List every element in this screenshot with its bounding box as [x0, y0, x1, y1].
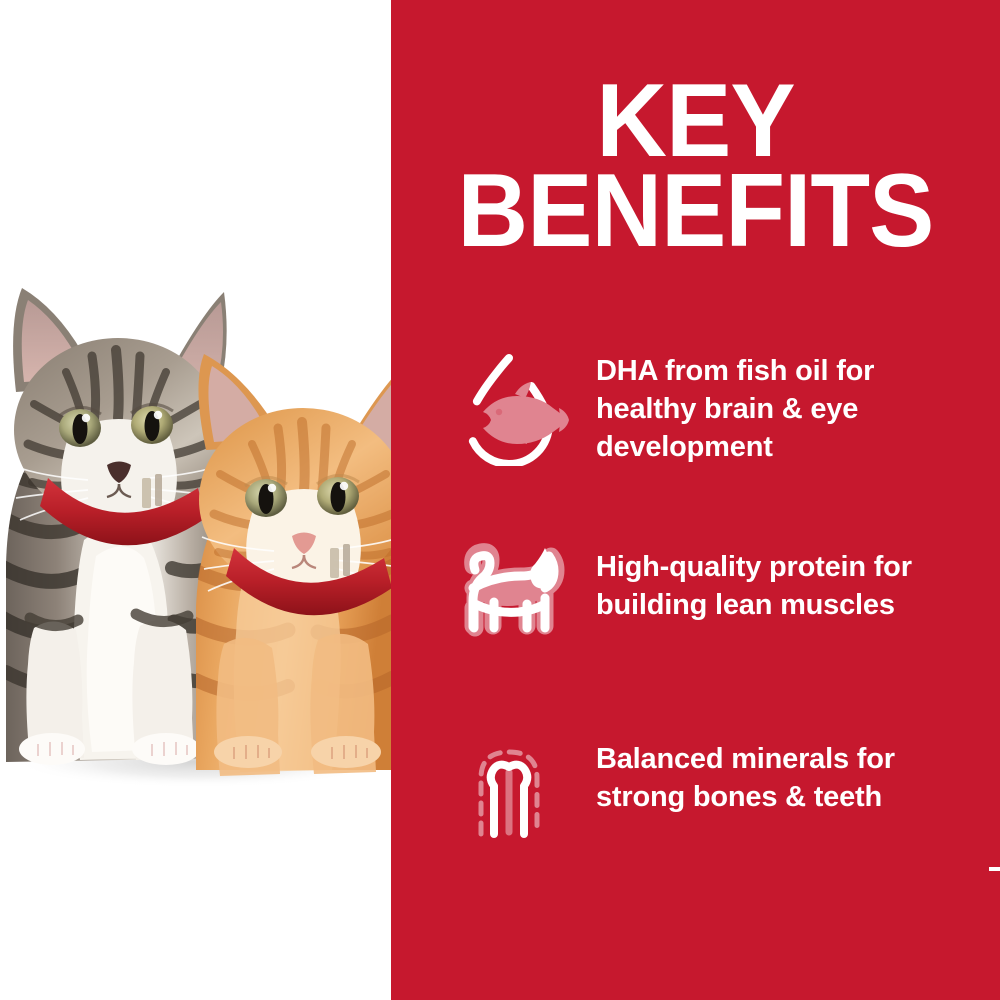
bone-icon — [449, 726, 569, 846]
cat-muscle-icon — [449, 526, 569, 646]
orange-tabby-kitten — [194, 354, 391, 776]
kitten-photo-panel — [0, 0, 391, 1000]
benefit-item-minerals: Balanced minerals for strong bones & tee… — [391, 710, 1000, 880]
benefit-text-dha: DHA from fish oil for healthy brain & ey… — [569, 330, 874, 466]
benefit-protein-line2: building lean muscles — [596, 586, 912, 624]
page-title: KEY BENEFITS — [409, 76, 981, 256]
benefit-dha-line2: healthy brain & eye — [596, 390, 874, 428]
fish-oil-droplet-icon — [449, 346, 569, 466]
kittens-image — [0, 0, 391, 1000]
benefits-list: DHA from fish oil for healthy brain & ey… — [391, 330, 1000, 880]
benefit-dha-line3: development — [596, 428, 874, 466]
key-benefits-panel: KEY BENEFITS — [0, 0, 1000, 1000]
benefit-protein-line1: High-quality protein for — [596, 548, 912, 586]
benefit-text-minerals: Balanced minerals for strong bones & tee… — [569, 710, 895, 816]
benefit-minerals-line2: strong bones & teeth — [596, 778, 895, 816]
benefit-minerals-line1: Balanced minerals for — [596, 740, 895, 778]
benefit-item-protein: High-quality protein for building lean m… — [391, 510, 1000, 710]
benefit-text-protein: High-quality protein for building lean m… — [569, 510, 912, 624]
benefits-red-panel: KEY BENEFITS — [391, 0, 1000, 1000]
benefit-dha-line1: DHA from fish oil for — [596, 352, 874, 390]
benefit-item-dha: DHA from fish oil for healthy brain & ey… — [391, 330, 1000, 510]
title-line-2: BENEFITS — [409, 166, 981, 256]
